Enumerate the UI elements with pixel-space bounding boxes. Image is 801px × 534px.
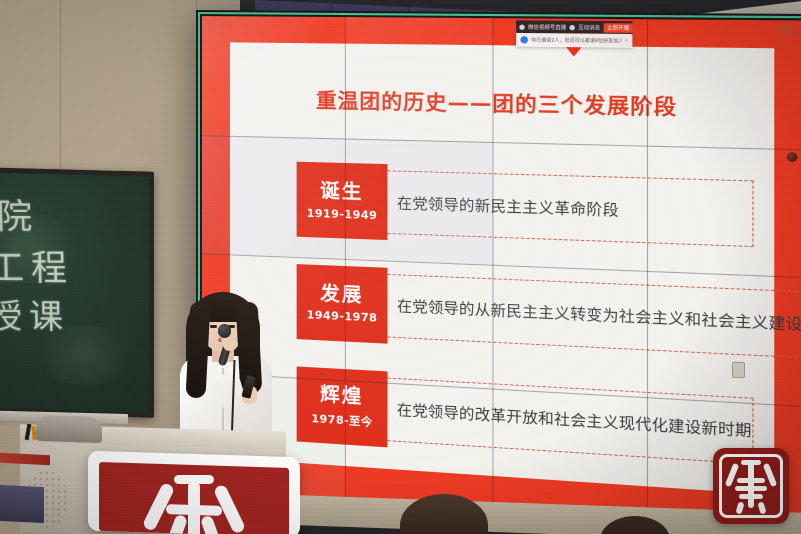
logo-glyph-icon: [725, 460, 777, 512]
stage-description-text: 在党领导的改革开放和社会主义现代化建设新时期: [378, 398, 752, 442]
blackboard: 学院 马工程 期授课: [0, 166, 154, 417]
badge-title: 发展: [320, 283, 363, 306]
stage-badge-development: 发展 1949-1978: [297, 264, 388, 344]
invite-toast[interactable]: 你已邀请2人，您还可以邀请8位好友加入… ×: [516, 33, 632, 48]
sign-emblem-icon: [144, 471, 244, 534]
message-icon: [569, 24, 574, 29]
ir-sensor-icon: [787, 152, 797, 162]
badge-years: 1919-1949: [307, 206, 378, 222]
screenshot-stage: 学院 马工程 期授课 重温团的历史——团的三个发展阶段 诞生 1919-1949: [0, 0, 801, 534]
close-icon[interactable]: ×: [625, 38, 628, 44]
speaker-icon: [519, 24, 524, 29]
notification-bar[interactable]: 微信视频号直播 互动消息 立即开播: [516, 20, 632, 34]
badge-years: 1949-1978: [307, 309, 378, 326]
microphone-head-icon[interactable]: [218, 324, 231, 338]
chalk-line-3: 期授课: [0, 288, 70, 338]
stage-description-text: 在党领导的从新民主主义转变为社会主义和社会主义建设阶段: [378, 295, 801, 338]
notification-bar-text: 微信视频号直播: [528, 23, 566, 31]
stage-badge-birth: 诞生 1919-1949: [297, 162, 388, 240]
stage-description-box: 在党领导的改革开放和社会主义现代化建设新时期: [377, 377, 753, 464]
invite-toast-text: 你已邀请2人，您还可以邀请8位好友加入…: [531, 37, 621, 44]
seal-logo-watermark: [713, 448, 789, 524]
wall-outlet-icon: [732, 362, 745, 378]
blackboard-surface: 学院 马工程 期授课: [0, 171, 149, 412]
sign-panel: [95, 458, 293, 534]
chair-backrest: [36, 415, 102, 443]
start-broadcast-button[interactable]: 立即开播: [604, 23, 633, 33]
desk-blue-strip: [0, 485, 44, 523]
ceiling-vent-icon: [779, 24, 793, 36]
stage-description-text: 在党领导的新民主主义革命阶段: [378, 191, 619, 221]
badge-title: 诞生: [320, 180, 363, 203]
badge-years: 1978-至今: [311, 409, 372, 429]
chalk-line-2: 马工程: [0, 239, 75, 292]
pointer-caret-icon: [566, 47, 581, 57]
blackboard-frame: 学院 马工程 期授课: [0, 166, 154, 417]
stage-description-box: 在党领导的新民主主义革命阶段: [377, 170, 753, 247]
slide-content-area: 重温团的历史——团的三个发展阶段 诞生 1919-1949 在党领导的新民主主义…: [230, 42, 774, 495]
user-avatar: [520, 36, 528, 43]
live-stream-notification[interactable]: 微信视频号直播 互动消息 立即开播 你已邀请2人，您还可以邀请8位好友加入… ×: [516, 20, 632, 57]
slide-title: 重温团的历史——团的三个发展阶段: [230, 83, 774, 123]
badge-title: 辉煌: [320, 384, 363, 408]
notification-bar-secondary: 互动消息: [578, 24, 600, 32]
wall-seam: [60, 0, 61, 180]
slide-rows: 诞生 1919-1949 在党领导的新民主主义革命阶段 发展 1949-1978: [230, 147, 774, 486]
stage-description-box: 在党领导的从新民主主义转变为社会主义和社会主义建设阶段: [377, 273, 801, 360]
chalk-line-1: 学院: [0, 189, 40, 240]
red-emblem-sign: [88, 451, 300, 534]
